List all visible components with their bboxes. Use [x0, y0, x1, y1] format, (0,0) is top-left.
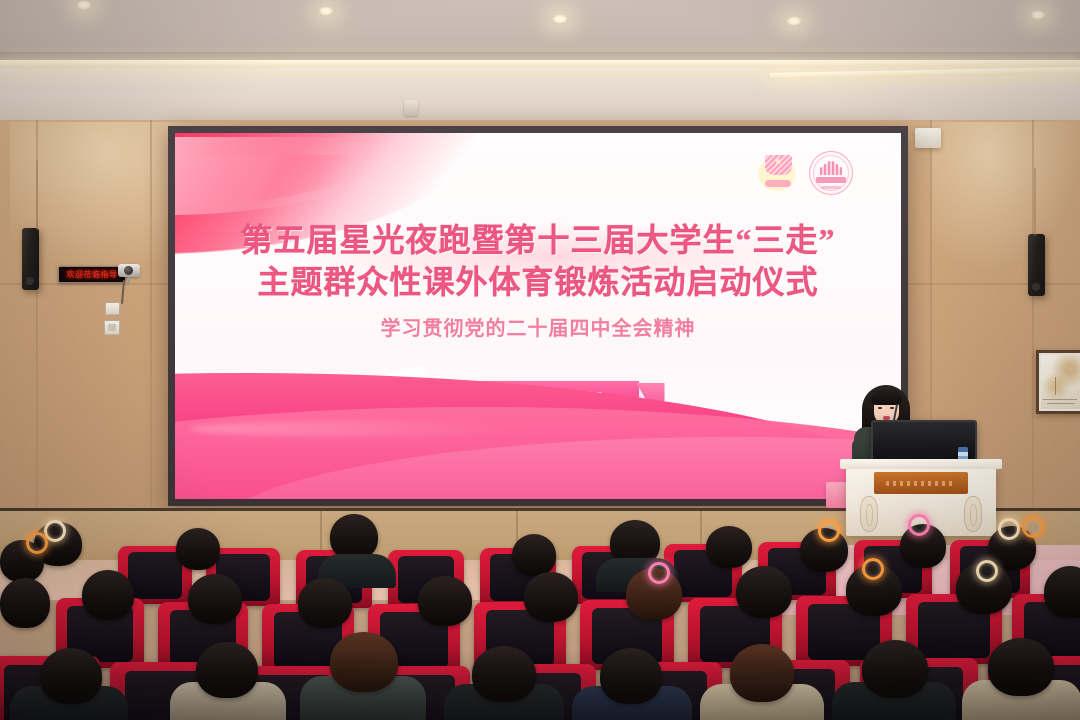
audience-head [472, 646, 536, 702]
downlight-4 [786, 16, 802, 26]
downlight-1 [76, 0, 92, 10]
person-eye-right [890, 407, 894, 409]
column-speaker-right-icon [1028, 234, 1045, 296]
wall-sconce-icon [915, 128, 941, 148]
screen-title-block: 第五届星光夜跑暨第十三届大学生“三走” 主题群众性课外体育锻炼活动启动仪式 学习… [175, 219, 901, 341]
framed-artwork [1036, 350, 1080, 414]
audience-head [40, 648, 102, 704]
screen-logos [758, 151, 853, 195]
auditorium-scene: 欢迎莅临指导 [0, 0, 1080, 720]
podium-top-surface [840, 459, 1002, 469]
audience-head [0, 578, 50, 628]
event-title: 第五届星光夜跑暨第十三届大学生“三走” 主题群众性课外体育锻炼活动启动仪式 [175, 219, 901, 303]
speaker-cable-left [36, 160, 38, 230]
audience-head [1044, 566, 1080, 618]
audience-head [418, 576, 472, 626]
pink-wave-highlight [190, 421, 524, 437]
audience-head [988, 638, 1054, 696]
glow-headband [862, 558, 884, 580]
glow-headband [998, 518, 1020, 540]
audience-head [82, 570, 134, 620]
podium-engraving [886, 481, 956, 486]
column-speaker-left-icon [22, 228, 39, 290]
audience-head [600, 648, 662, 704]
audience-head [862, 640, 928, 698]
wall-outlet-upper [105, 302, 120, 315]
artwork-line-2 [1047, 403, 1075, 404]
downlight-3 [552, 14, 568, 24]
led-sign-text: 欢迎莅临指导 [67, 269, 118, 280]
school-seal-emblem-icon [809, 151, 853, 195]
event-subtitle: 学习贯彻党的二十届四中全会精神 [175, 312, 901, 341]
wall-panel-seam-h2 [908, 283, 1080, 285]
glow-headband [818, 520, 840, 542]
downlight-5 [1030, 10, 1046, 20]
audience-head [524, 572, 578, 622]
seal-subtext [821, 186, 841, 189]
glow-headband [976, 560, 998, 582]
led-screen-frame: 第五届星光夜跑暨第十三届大学生“三走” 主题群众性课外体育锻炼活动启动仪式 学习… [168, 126, 908, 506]
wall-outlet-lower [104, 320, 120, 335]
event-title-line-1: 第五届星光夜跑暨第十三届大学生“三走” [240, 222, 835, 258]
ceiling-sensor [404, 100, 418, 116]
led-scroll-sign: 欢迎莅临指导 [58, 266, 126, 283]
wall-panel-seam-2 [150, 120, 152, 540]
downlight-2 [318, 6, 334, 16]
audience-head [330, 632, 398, 692]
seal-name-text [816, 177, 846, 183]
person-eye-left [878, 407, 882, 409]
glow-headband [908, 514, 930, 536]
speaker-cable-right [1034, 168, 1036, 236]
audience-head [730, 644, 794, 702]
audience-head [706, 526, 752, 568]
camera-mount-arm [128, 276, 130, 284]
emblem-band [765, 180, 791, 187]
glow-headband [26, 532, 48, 554]
podium-wood-panel [874, 472, 968, 494]
cove-light-strip [0, 60, 1080, 67]
glow-headband [648, 562, 670, 584]
event-title-line-2: 主题群众性课外体育锻炼活动启动仪式 [175, 261, 901, 303]
person-fringe [871, 390, 902, 405]
camera-lens [124, 266, 133, 275]
emblem-flag [765, 155, 792, 175]
artwork-stem [1055, 377, 1056, 395]
audience-area [0, 506, 1080, 720]
audience-head [736, 566, 792, 618]
communist-youth-league-emblem-icon [758, 153, 798, 193]
audience-head [188, 574, 242, 624]
artwork-line-1 [1043, 399, 1077, 400]
led-screen: 第五届星光夜跑暨第十三届大学生“三走” 主题群众性课外体育锻炼活动启动仪式 学习… [175, 133, 901, 499]
glow-headband [1022, 516, 1044, 538]
audience-head [176, 528, 220, 570]
audience-head [512, 534, 556, 576]
audience-head [196, 642, 258, 698]
security-camera-icon [118, 262, 142, 282]
artwork-canvas [1041, 355, 1080, 409]
audience-head [298, 578, 352, 628]
